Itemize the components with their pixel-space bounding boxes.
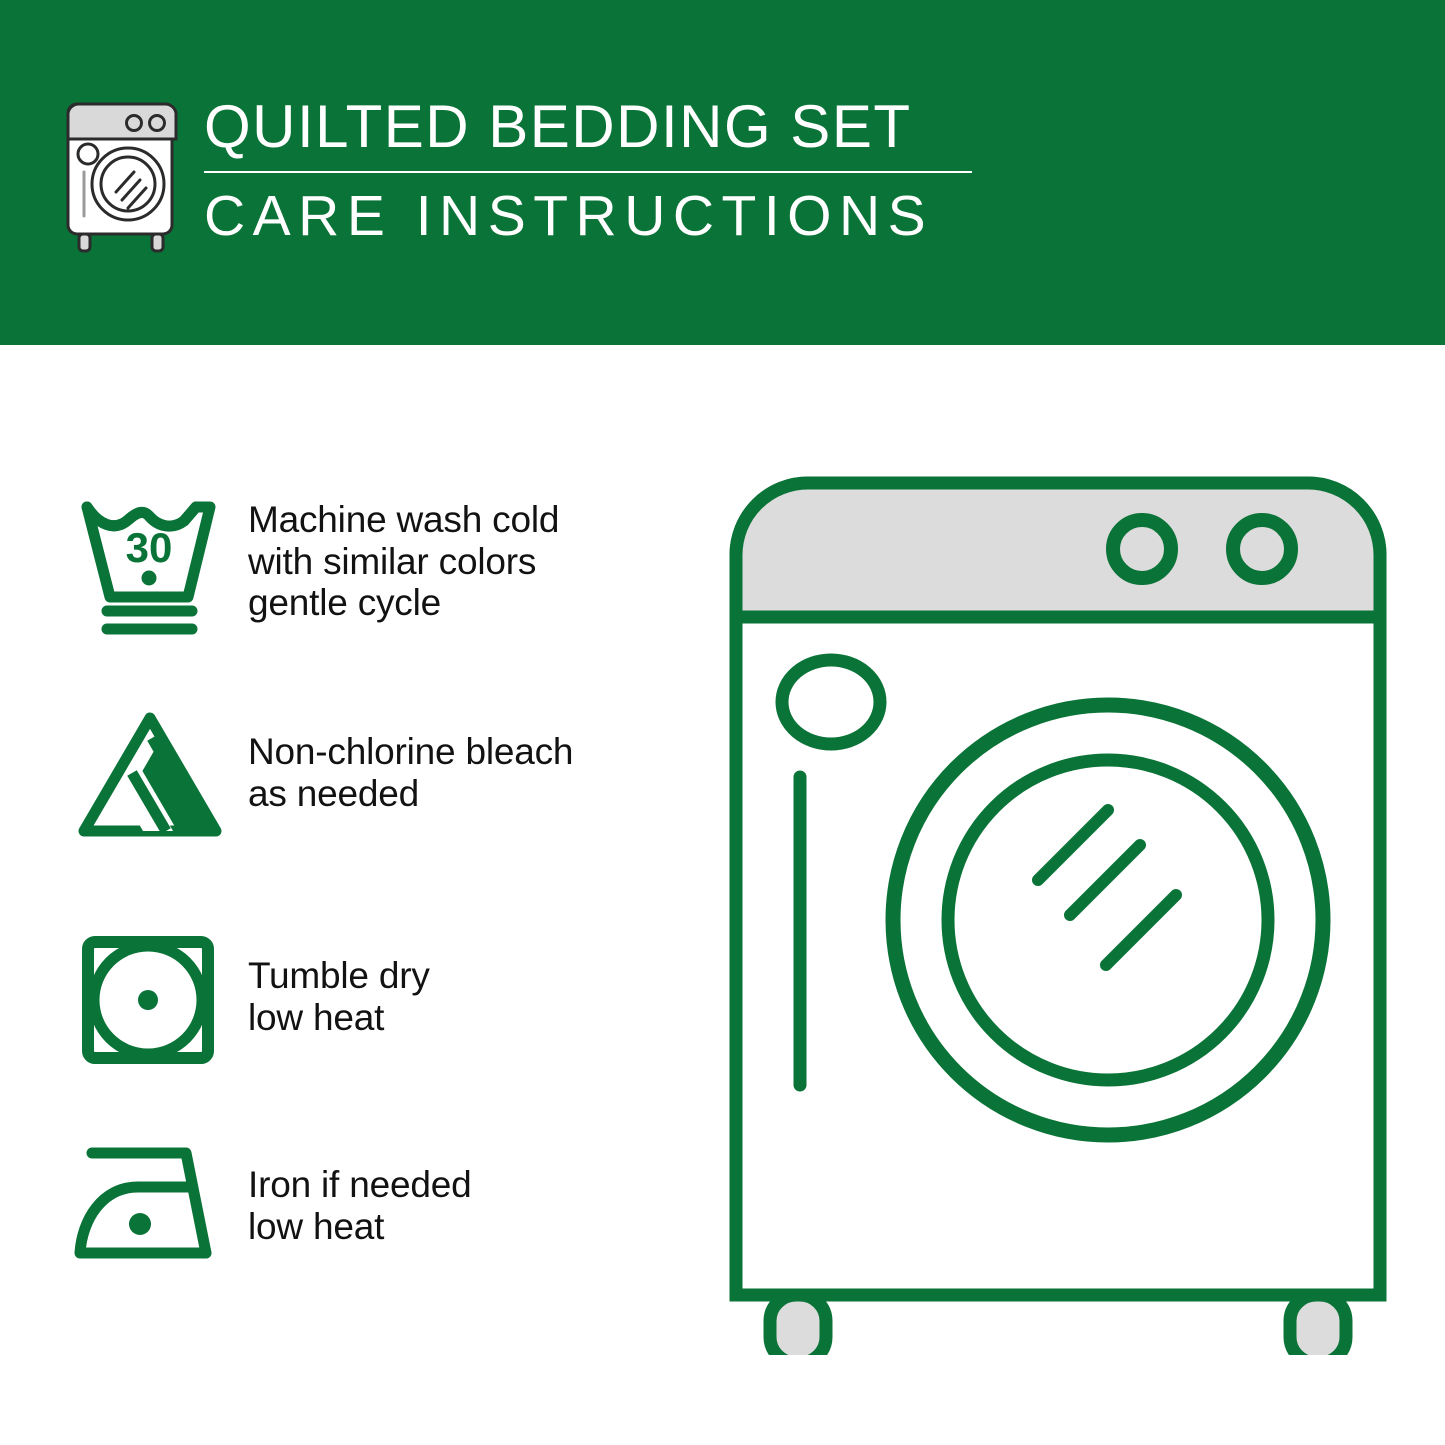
washer-leg-right [1290, 1295, 1346, 1355]
care-row: 30 Machine wash cold with similar colors… [70, 490, 690, 638]
washer-indicator-light [782, 660, 880, 744]
washer-leg-left [770, 1295, 826, 1355]
care-label: Machine wash cold with similar colors ge… [230, 490, 690, 624]
header-content: QUILTED BEDDING SET CARE INSTRUCTIONS [62, 92, 972, 256]
gentle-cycle-dot [142, 571, 157, 586]
wash-tub-30-icon: 30 [70, 490, 230, 638]
iron-low-heat-icon [70, 1140, 230, 1268]
front-load-washing-machine-illustration [718, 465, 1398, 1355]
care-symbol-slot [70, 705, 230, 845]
content-area: 30 Machine wash cold with similar colors… [0, 345, 1445, 1445]
header-band: QUILTED BEDDING SET CARE INSTRUCTIONS [0, 0, 1445, 345]
care-symbol-slot [70, 1140, 230, 1268]
care-symbol-slot: 30 [70, 490, 230, 638]
washer-knob-right[interactable] [1233, 520, 1291, 578]
title-divider [204, 171, 972, 173]
washer-knob-left[interactable] [1113, 520, 1171, 578]
non-chlorine-bleach-triangle-icon [70, 705, 230, 845]
header-title-block: QUILTED BEDDING SET CARE INSTRUCTIONS [204, 92, 972, 247]
care-symbol-slot [70, 930, 230, 1070]
tumble-dry-low-icon [70, 930, 230, 1070]
care-label: Non-chlorine bleach as needed [230, 705, 690, 814]
care-row: Tumble dry low heat [70, 930, 690, 1070]
care-row: Non-chlorine bleach as needed [70, 705, 690, 845]
low-heat-dot [129, 1213, 151, 1235]
care-label: Tumble dry low heat [230, 930, 690, 1038]
wash-temperature-label: 30 [126, 524, 173, 571]
low-heat-dot [138, 990, 158, 1010]
washing-machine-icon [62, 96, 182, 256]
care-label: Iron if needed low heat [230, 1140, 690, 1247]
care-row: Iron if needed low heat [70, 1140, 690, 1268]
page-title: QUILTED BEDDING SET [204, 94, 972, 160]
page-subtitle: CARE INSTRUCTIONS [204, 185, 972, 247]
